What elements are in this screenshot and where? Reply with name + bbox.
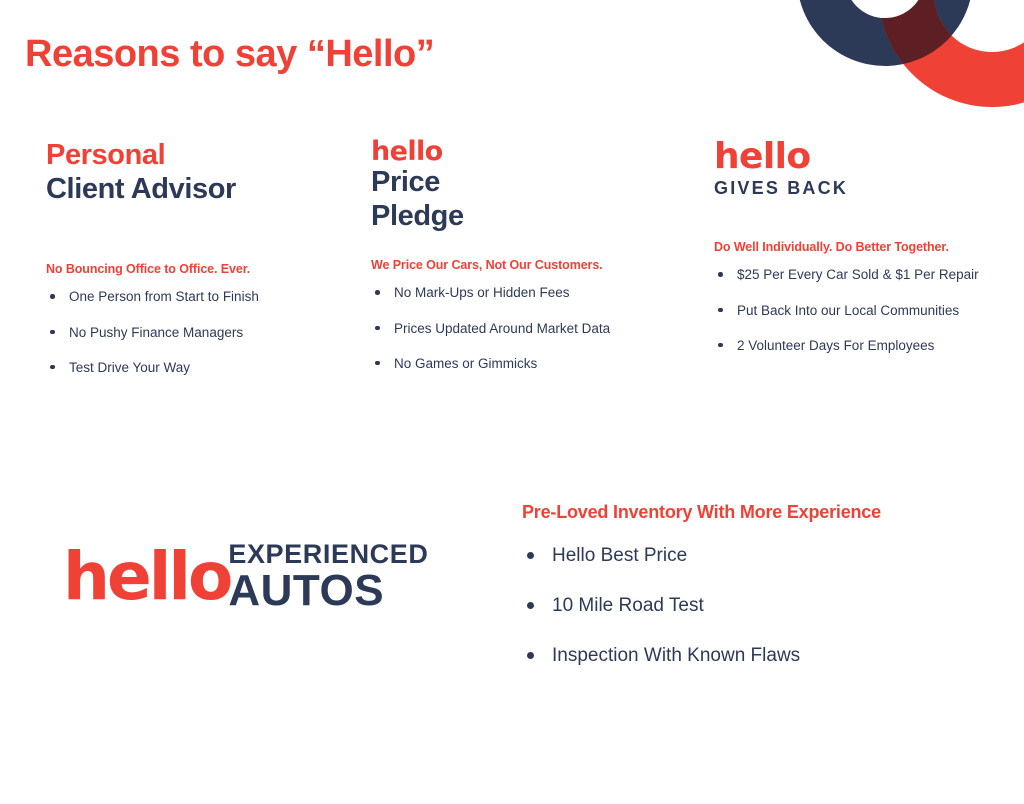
list-item: 10 Mile Road Test: [522, 595, 1012, 618]
bullet-dot-icon: [50, 330, 55, 335]
bullet-dot-icon: [375, 290, 380, 295]
logo-text-stack: EXPERIENCED AUTOS: [228, 540, 428, 614]
column-kicker: We Price Our Cars, Not Our Customers.: [371, 258, 671, 272]
footer-kicker: Pre-Loved Inventory With More Experience: [522, 502, 1012, 523]
column-kicker: No Bouncing Office to Office. Ever.: [46, 262, 346, 276]
list-item: No Games or Gimmicks: [371, 356, 671, 372]
logo-autos-label: AUTOS: [228, 569, 428, 614]
hello-wordmark: hello: [714, 138, 1014, 176]
list-item-label: 10 Mile Road Test: [552, 595, 704, 616]
list-item: No Pushy Finance Managers: [46, 325, 346, 341]
list-item-label: Test Drive Your Way: [69, 360, 190, 375]
hello-experienced-autos-logo: hello EXPERIENCED AUTOS: [63, 540, 429, 614]
column-bullet-list: $25 Per Every Car Sold & $1 Per Repair P…: [714, 267, 1014, 354]
bullet-dot-icon: [718, 272, 723, 277]
column-heading: hello Price Pledge: [371, 138, 671, 233]
bullet-dot-icon: [718, 308, 723, 313]
column-personal-client-advisor: Personal Client Advisor No Bouncing Offi…: [46, 138, 346, 395]
footer-bullet-list: Hello Best Price 10 Mile Road Test Inspe…: [522, 545, 1012, 667]
list-item-label: No Pushy Finance Managers: [69, 325, 243, 340]
page-title: Reasons to say “Hello”: [25, 33, 434, 76]
pre-loved-inventory-block: Pre-Loved Inventory With More Experience…: [522, 502, 1012, 694]
column-bullet-list: One Person from Start to Finish No Pushy…: [46, 289, 346, 376]
list-item: Prices Updated Around Market Data: [371, 321, 671, 337]
list-item: 2 Volunteer Days For Employees: [714, 338, 1014, 354]
navy-ring-inner-hole: [845, 0, 925, 18]
gives-back-label: GIVES BACK: [714, 178, 1014, 200]
feature-columns: Personal Client Advisor No Bouncing Offi…: [0, 138, 1024, 398]
list-item: One Person from Start to Finish: [46, 289, 346, 305]
bullet-dot-icon: [527, 602, 534, 609]
list-item-label: Prices Updated Around Market Data: [394, 321, 610, 336]
bullet-dot-icon: [375, 361, 380, 366]
column-kicker: Do Well Individually. Do Better Together…: [714, 240, 1014, 254]
list-item: Test Drive Your Way: [46, 360, 346, 376]
ring-overlap-shape: [879, 0, 1024, 107]
bullet-dot-icon: [527, 652, 534, 659]
heading-line-1: Personal: [46, 138, 346, 172]
list-item-label: Inspection With Known Flaws: [552, 645, 800, 666]
bullet-dot-icon: [50, 294, 55, 299]
navy-ring-shape: [797, 0, 973, 66]
column-heading: Personal Client Advisor: [46, 138, 346, 206]
column-bullet-list: No Mark-Ups or Hidden Fees Prices Update…: [371, 285, 671, 372]
list-item-label: One Person from Start to Finish: [69, 289, 259, 304]
bullet-dot-icon: [527, 552, 534, 559]
list-item: No Mark-Ups or Hidden Fees: [371, 285, 671, 301]
list-item-label: Put Back Into our Local Communities: [737, 303, 959, 318]
list-item-label: No Games or Gimmicks: [394, 356, 537, 371]
hello-wordmark: hello: [371, 138, 671, 165]
heading-line-2: Pledge: [371, 199, 671, 233]
list-item: Put Back Into our Local Communities: [714, 303, 1014, 319]
logo-experienced-label: EXPERIENCED: [228, 540, 428, 568]
list-item-label: Hello Best Price: [552, 545, 687, 566]
heading-line-1: Price: [371, 165, 671, 199]
bullet-dot-icon: [50, 365, 55, 370]
decorative-rings: [760, 0, 1024, 120]
column-hello-price-pledge: hello Price Pledge We Price Our Cars, No…: [371, 138, 671, 391]
red-ring-shape: [879, 0, 1024, 107]
column-heading: hello GIVES BACK: [714, 138, 1014, 199]
list-item-label: 2 Volunteer Days For Employees: [737, 338, 934, 353]
bullet-dot-icon: [718, 343, 723, 348]
list-item: Hello Best Price: [522, 545, 1012, 568]
list-item: $25 Per Every Car Sold & $1 Per Repair: [714, 267, 1014, 283]
column-hello-gives-back: hello GIVES BACK Do Well Individually. D…: [714, 138, 1014, 373]
list-item: Inspection With Known Flaws: [522, 645, 1012, 668]
list-item-label: $25 Per Every Car Sold & $1 Per Repair: [737, 267, 979, 282]
heading-line-2: Client Advisor: [46, 172, 346, 206]
slide-canvas: Reasons to say “Hello” Personal Client A…: [0, 0, 1024, 804]
bullet-dot-icon: [375, 326, 380, 331]
logo-hello-wordmark: hello: [63, 544, 230, 610]
list-item-label: No Mark-Ups or Hidden Fees: [394, 285, 570, 300]
